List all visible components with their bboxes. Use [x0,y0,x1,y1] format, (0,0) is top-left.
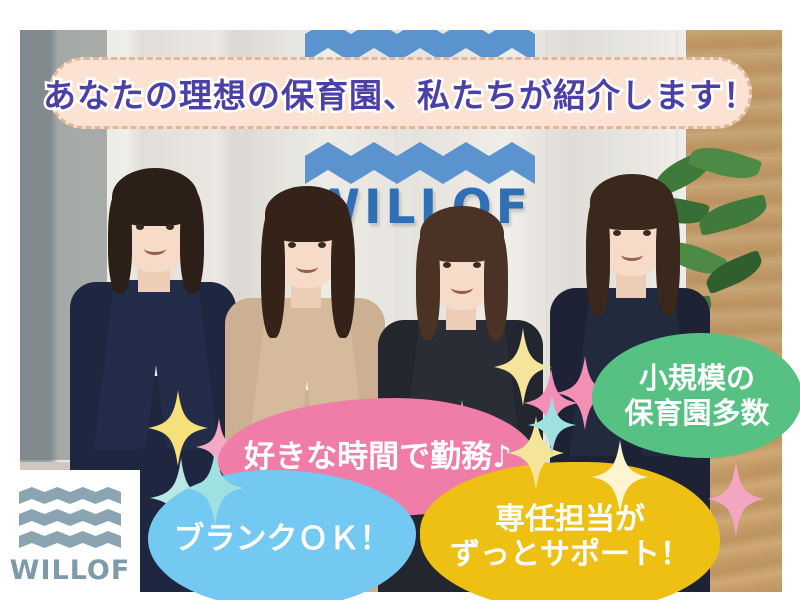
bubble-blue-line-1: ブランクＯＫ！ [174,521,391,558]
poster-canvas: WILLOF [0,0,800,600]
bubble-green-line-1: 小規模の [639,361,755,395]
bubble-dedicated-support[interactable]: 専任担当が ずっとサポート！ [420,462,720,600]
headline-banner: あなたの理想の保育園、私たちが紹介します！ [48,57,752,129]
zigzag-row-icon-2 [19,509,121,526]
sparkle-cyan-small-icon [528,394,576,456]
sparkle-cream-yellow-icon [592,440,648,514]
brand-logo-mark [19,487,121,553]
sparkle-cyan-over-icon [186,450,244,526]
zigzag-row-icon-1 [19,487,121,504]
headline-text: あなたの理想の保育園、私たちが紹介します！ [43,69,757,117]
brand-logo-word: WILLOF [10,557,131,584]
zigzag-row-icon-3 [19,531,121,548]
bubble-green-line-2: 保育園多数 [624,396,769,430]
bubble-yellow-line-2: ずっとサポート！ [450,537,690,572]
brand-logo-card[interactable]: WILLOF [0,470,140,600]
